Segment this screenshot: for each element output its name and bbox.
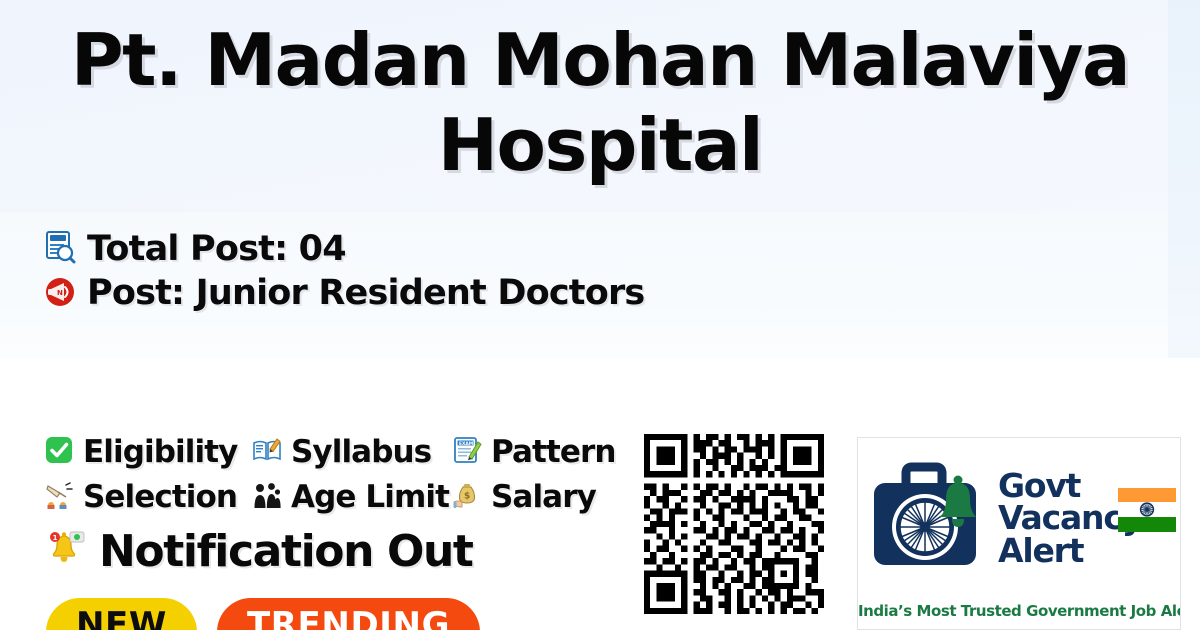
status-badge-new[interactable]: NEW — [46, 598, 197, 630]
poster-canvas: Pt. Madan Mohan Malaviya Hospital Total … — [0, 0, 1200, 630]
bell-icon: 1 — [44, 528, 86, 575]
svg-text:N: N — [57, 289, 63, 297]
detail-row-total-post: Total Post: 04 — [44, 228, 824, 270]
detail-text: Post: Junior Resident Doctors — [87, 273, 644, 313]
money-bag-icon: $ — [452, 480, 482, 515]
feature-grid: Eligibility Syllabus — [44, 430, 684, 520]
feature-label: Selection — [83, 479, 237, 515]
feature-age-limit: Age Limit — [252, 479, 452, 515]
brand-tagline: India’s Most Trusted Government Job Aler… — [858, 602, 1181, 620]
feature-label: Pattern — [491, 434, 616, 470]
qr-code-card[interactable] — [621, 417, 846, 630]
brand-logo-card: Govt Vacancy Alert — [857, 437, 1181, 630]
feature-salary: $ Salary — [452, 479, 596, 515]
feature-label: Age Limit — [291, 479, 449, 515]
notification-text: Notification Out — [99, 526, 473, 577]
post-details: Total Post: 04 N Post: Junior Resident D… — [44, 228, 824, 316]
status-badge-trending[interactable]: TRENDING — [217, 598, 480, 630]
exam-paper-icon: EXAM — [452, 435, 482, 470]
feature-row-1: Eligibility Syllabus — [44, 430, 684, 474]
feature-pattern: EXAM Pattern — [452, 434, 616, 470]
detail-text: Total Post: 04 — [87, 229, 346, 269]
india-flag-icon — [1118, 488, 1176, 537]
feature-label: Eligibility — [83, 434, 237, 470]
check-mark-icon — [44, 435, 74, 470]
qr-code[interactable] — [644, 434, 824, 614]
people-icon — [252, 480, 282, 515]
selection-icon — [44, 480, 74, 515]
feature-label: Salary — [491, 479, 596, 515]
svg-text:$: $ — [464, 491, 470, 501]
feature-label: Syllabus — [291, 434, 431, 470]
svg-text:EXAM: EXAM — [459, 440, 473, 446]
feature-eligibility: Eligibility — [44, 434, 252, 470]
feature-row-2: Selection Age Limit — [44, 475, 684, 519]
svg-text:1: 1 — [53, 534, 58, 542]
notification-banner: 1 Notification Out — [44, 526, 473, 577]
detail-row-post-name: N Post: Junior Resident Doctors — [44, 272, 824, 314]
badge-row: NEW TRENDING — [46, 598, 480, 630]
feature-syllabus: Syllabus — [252, 434, 452, 470]
page-title: Pt. Madan Mohan Malaviya Hospital — [60, 18, 1140, 188]
brand-logo-main: Govt Vacancy Alert — [858, 446, 1181, 591]
open-book-icon — [252, 435, 282, 470]
briefcase-chakra-bell-icon — [866, 453, 994, 584]
title-area: Pt. Madan Mohan Malaviya Hospital — [0, 18, 1200, 188]
megaphone-icon: N — [44, 274, 76, 313]
feature-selection: Selection — [44, 479, 252, 515]
job-document-icon — [44, 230, 76, 269]
